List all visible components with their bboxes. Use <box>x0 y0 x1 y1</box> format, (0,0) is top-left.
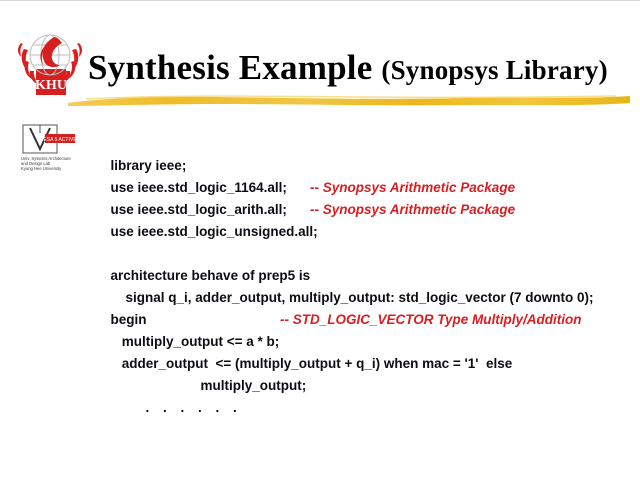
code-line: multiply_output <= a * b; -- STD_LOGIC_V… <box>88 309 633 331</box>
vhdl-course-logo: ESA 5 ACTIVE Univ. Systems Architecture … <box>17 123 79 173</box>
code-comment: -- Synopsys Arithmetic Package <box>310 177 515 199</box>
code-line: use ieee.std_logic_arith.all; -- Synopsy… <box>88 177 633 199</box>
code-line: signal q_i, adder_output, multiply_outpu… <box>88 265 633 287</box>
code-line-blank <box>88 221 633 243</box>
code-line: begin <box>88 287 633 309</box>
gold-brushstroke-divider <box>66 93 632 108</box>
code-comment: -- Synopsys Arithmetic Package <box>310 199 515 221</box>
code-line: library ieee; <box>88 133 633 155</box>
page-title: Synthesis Example (Synopsys Library) <box>88 48 608 90</box>
code-text: . . . . . . <box>111 400 242 415</box>
code-line: adder_output <= (multiply_output + q_i) … <box>88 331 633 353</box>
khu-logo-text: KHU <box>35 78 67 93</box>
code-line: use ieee.std_logic_1164.all; <box>88 155 633 177</box>
code-comment: -- STD_LOGIC_VECTOR Type Multiply/Additi… <box>280 309 582 331</box>
sub-logo-caption-line3: Kyung Hee University <box>21 166 62 171</box>
code-line: architecture behave of prep5 is <box>88 243 633 265</box>
page-title-main: Synthesis Example <box>88 48 381 87</box>
code-line: multiply_output; <box>88 353 633 375</box>
code-line: use ieee.std_logic_unsigned.all; -- Syno… <box>88 199 633 221</box>
code-listing: library ieee; use ieee.std_logic_1164.al… <box>88 133 633 397</box>
sub-logo-badge-text: ESA 5 ACTIVE <box>43 137 77 143</box>
khu-logo: KHU <box>14 25 86 97</box>
slide-canvas: KHU Synthesis Example (Synopsys Library) <box>0 0 640 480</box>
page-title-subtitle: (Synopsys Library) <box>381 55 607 85</box>
code-line: . . . . . . <box>88 375 633 397</box>
